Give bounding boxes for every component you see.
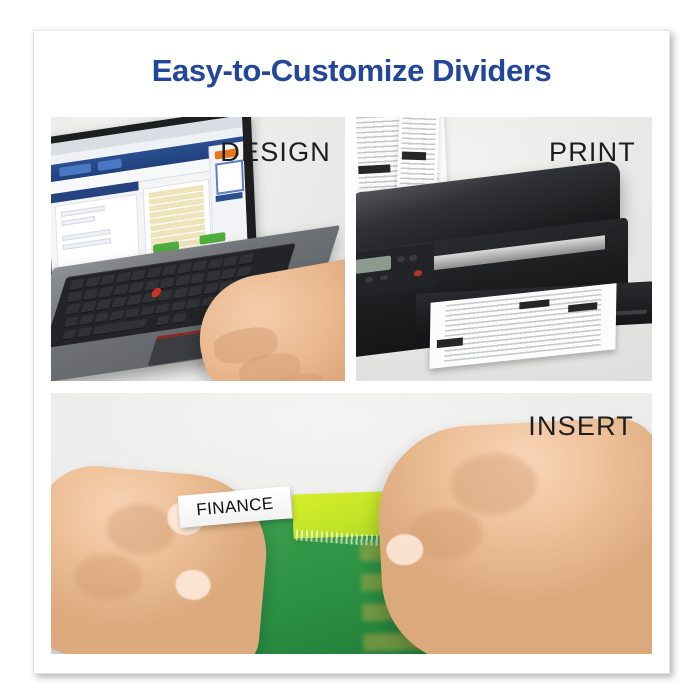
page-title: Easy-to-Customize Dividers — [34, 53, 669, 89]
label-black-block — [402, 152, 426, 161]
printer-control-panel — [356, 243, 434, 296]
panel-insert: FINANCE INSERT — [51, 393, 652, 654]
printer-button — [409, 254, 417, 261]
panel-label-insert: INSERT — [528, 411, 634, 442]
printer-button — [380, 274, 388, 281]
panel-print: PRINT — [356, 117, 652, 381]
printer-button — [397, 255, 405, 262]
panel-design: DESIGN — [51, 117, 345, 381]
product-card: Easy-to-Customize Dividers — [33, 30, 670, 674]
panel-label-design: DESIGN — [220, 137, 331, 168]
screenshot-root: Easy-to-Customize Dividers — [0, 0, 700, 700]
printer-lcd-screen — [356, 255, 391, 274]
panel-label-print: PRINT — [549, 137, 636, 168]
printer-button — [365, 276, 373, 283]
right-hand-holding-divider — [374, 416, 652, 654]
label-strip-text: FINANCE — [196, 494, 275, 521]
printer-power-button — [414, 269, 422, 276]
printed-text-rows — [444, 289, 601, 364]
form-field — [61, 216, 95, 227]
form-field — [61, 205, 105, 217]
